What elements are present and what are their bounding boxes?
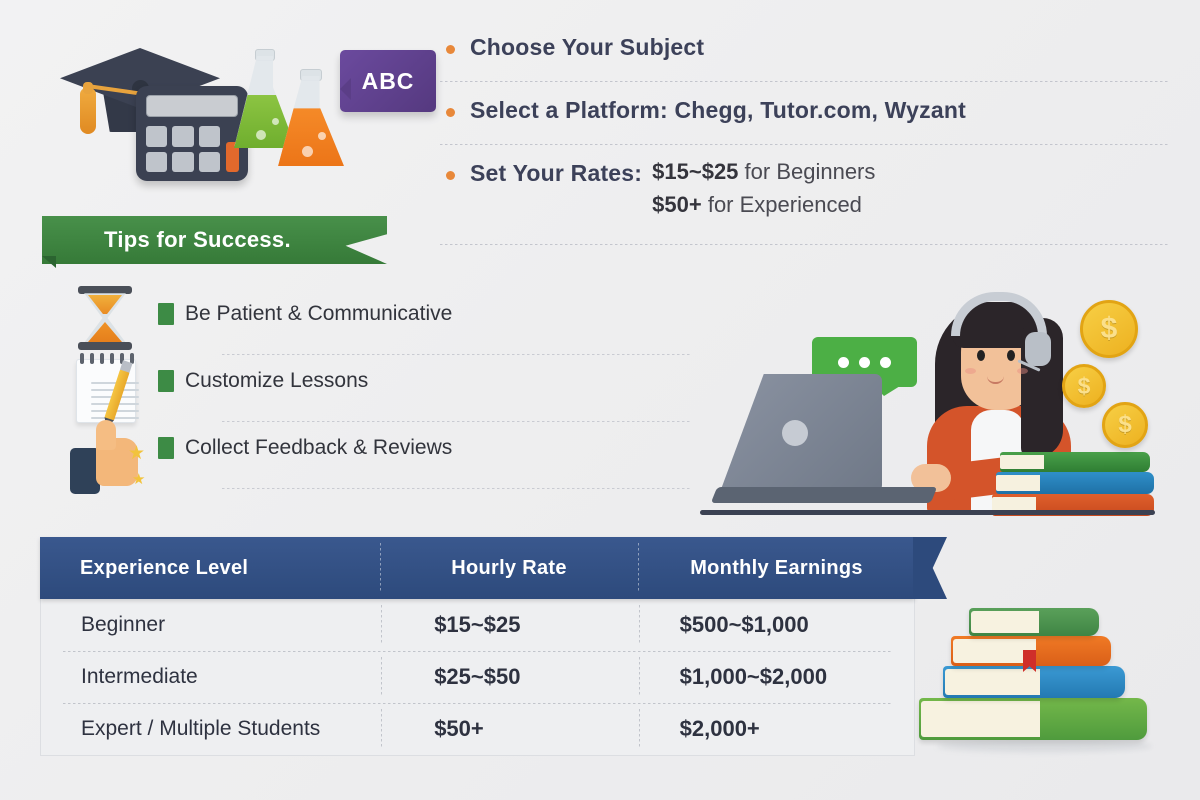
abc-bubble-label: ABC	[362, 68, 415, 95]
tip-item-be-patient: Be Patient & Communicative	[62, 288, 692, 355]
table-row: Intermediate $25~$50 $1,000~$2,000	[41, 651, 914, 703]
education-icon-cluster: ABC	[40, 18, 420, 188]
table-header-monthly-earnings: Monthly Earnings	[638, 557, 915, 580]
flask-liquid	[278, 108, 344, 166]
step-item-set-rates: Set Your Rates: $15~$25 for Beginners $5…	[440, 158, 1170, 222]
rate-amount: $15~$25	[652, 159, 738, 184]
tip-label: Customize Lessons	[185, 369, 368, 393]
step-item-choose-subject: Choose Your Subject	[440, 32, 1170, 67]
rate-line: $15~$25 for Beginners	[652, 159, 875, 185]
coin-symbol: $	[1078, 373, 1091, 400]
book-dark-green	[969, 608, 1099, 636]
tips-banner: Tips for Success.	[42, 216, 387, 264]
step-label: Choose Your Subject	[470, 32, 1170, 63]
table-header-hourly-rate: Hourly Rate	[380, 557, 638, 580]
tip-item-collect-feedback: ★ ★ Collect Feedback & Reviews	[62, 422, 692, 489]
step-separator	[440, 81, 1170, 82]
laptop-keyboard	[711, 487, 937, 503]
hourglass-bottom-cap	[78, 342, 132, 350]
tip-bullet-square-icon	[158, 370, 174, 392]
book-stack-icon	[915, 590, 1190, 765]
rate-line: $50+ for Experienced	[652, 192, 875, 218]
headset-band-icon	[951, 292, 1047, 336]
star-icon: ★	[128, 444, 145, 463]
flask-bubble	[318, 132, 326, 140]
cell-level: Expert / Multiple Students	[41, 717, 380, 741]
notepad-pencil-icon	[68, 351, 154, 429]
calculator-keys	[146, 126, 220, 172]
bullet-dot-icon	[446, 108, 455, 117]
book-stack-shadow	[937, 740, 1152, 752]
cheek-right	[1017, 368, 1028, 374]
rate-suffix: for Beginners	[738, 159, 875, 184]
laptop-logo	[782, 420, 808, 446]
step-separator	[440, 144, 1170, 145]
table-row: Expert / Multiple Students $50+ $2,000+	[41, 703, 914, 755]
desk-surface	[700, 510, 1155, 515]
coin-symbol: $	[1101, 312, 1118, 346]
eye-left	[977, 350, 985, 361]
eye-right	[1007, 350, 1015, 361]
flask-bubble	[302, 146, 313, 157]
tip-label: Be Patient & Communicative	[185, 302, 452, 326]
thumb-finger	[96, 420, 116, 450]
cell-monthly: $2,000+	[638, 716, 914, 742]
tip-separator	[222, 488, 692, 489]
rate-amount: $50+	[652, 192, 702, 217]
hourglass-icon	[66, 286, 144, 352]
abc-speech-bubble-icon: ABC	[340, 50, 436, 112]
tip-bullet-square-icon	[158, 437, 174, 459]
tips-banner-body: Tips for Success.	[42, 216, 387, 264]
tip-label: Collect Feedback & Reviews	[185, 436, 452, 460]
table-header-row: Experience Level Hourly Rate Monthly Ear…	[40, 537, 915, 599]
cell-monthly: $1,000~$2,000	[638, 664, 914, 690]
desk-book-green	[1000, 452, 1150, 472]
star-icon: ★	[132, 472, 145, 487]
cell-level: Beginner	[41, 613, 380, 637]
calculator-icon	[136, 86, 248, 181]
steps-list: Choose Your Subject Select a Platform: C…	[440, 32, 1170, 258]
bullet-dot-icon	[446, 171, 455, 180]
step-label: Select a Platform: Chegg, Tutor.com, Wyz…	[470, 95, 1170, 126]
infographic-canvas: ABC Choose Your Subject Select a Platfor…	[0, 0, 1200, 800]
tips-banner-label: Tips for Success.	[42, 227, 291, 253]
coin-icon: $	[1102, 402, 1148, 448]
cap-tassel	[80, 88, 96, 134]
step-separator	[440, 244, 1170, 245]
cell-hourly: $50+	[380, 716, 637, 742]
table-header-experience-level: Experience Level	[40, 557, 380, 580]
earnings-table: Experience Level Hourly Rate Monthly Ear…	[40, 537, 915, 756]
flask-bubble	[256, 130, 266, 140]
cell-hourly: $15~$25	[380, 612, 637, 638]
table-row: Beginner $15~$25 $500~$1,000	[41, 599, 914, 651]
cheek-left	[965, 368, 976, 374]
bullet-dot-icon	[446, 45, 455, 54]
headset-earcup-icon	[1025, 332, 1051, 366]
cell-hourly: $25~$50	[380, 664, 637, 690]
table-body: Beginner $15~$25 $500~$1,000 Intermediat…	[40, 599, 915, 756]
tip-item-customize-lessons: Customize Lessons	[62, 355, 692, 422]
book-light-green	[919, 698, 1147, 740]
rate-values: $15~$25 for Beginners $50+ for Experienc…	[652, 158, 875, 218]
calculator-screen	[146, 95, 238, 117]
coin-symbol: $	[1118, 411, 1131, 439]
book-blue	[943, 666, 1125, 698]
thumbs-up-icon: ★ ★	[66, 422, 158, 496]
tips-list: Be Patient & Communicative Customize Les…	[62, 288, 692, 489]
coin-icon: $	[1062, 364, 1106, 408]
desk-book-blue	[996, 472, 1154, 494]
tip-bullet-square-icon	[158, 303, 174, 325]
tutor-illustration: $ $ $	[700, 282, 1175, 527]
hourglass-top-cap	[78, 286, 132, 294]
cell-level: Intermediate	[41, 665, 380, 689]
step-item-select-platform: Select a Platform: Chegg, Tutor.com, Wyz…	[440, 95, 1170, 130]
cell-monthly: $500~$1,000	[638, 612, 914, 638]
coin-icon: $	[1080, 300, 1138, 358]
step-label: Set Your Rates:	[470, 158, 642, 189]
rate-suffix: for Experienced	[702, 192, 862, 217]
